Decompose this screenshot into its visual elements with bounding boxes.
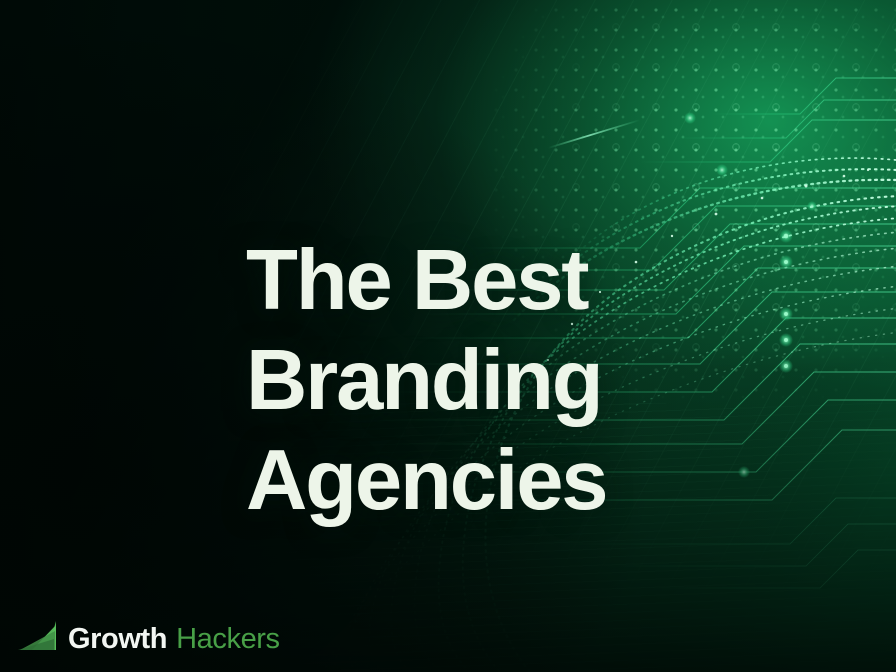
logo-wordmark: Growth Hackers bbox=[68, 625, 280, 654]
brand-logo[interactable]: Growth Hackers bbox=[18, 617, 280, 661]
slide-canvas: The Best Branding Agencies Growth Hacker… bbox=[0, 0, 896, 672]
title-line-3: Agencies bbox=[246, 431, 766, 531]
title-line-2: Branding bbox=[246, 331, 766, 431]
logo-word-hackers: Hackers bbox=[176, 625, 280, 654]
logo-word-growth: Growth bbox=[68, 625, 167, 654]
title-line-1: The Best bbox=[246, 231, 766, 331]
growth-hackers-wedge-icon bbox=[18, 619, 72, 659]
slide-title: The Best Branding Agencies bbox=[246, 231, 766, 531]
